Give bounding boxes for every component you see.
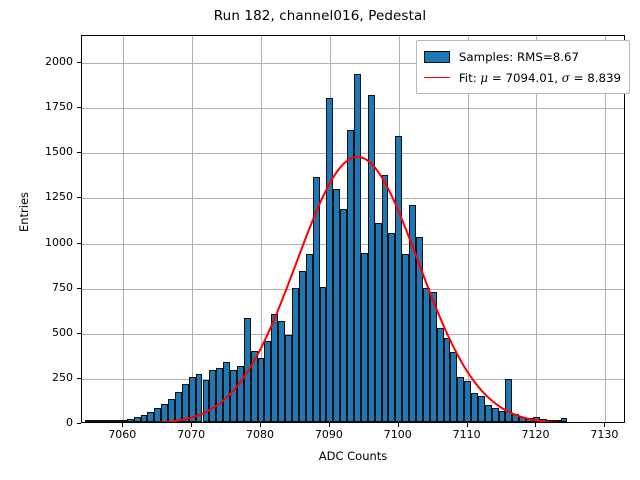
x-tick-mark	[122, 423, 123, 427]
histogram-bar	[99, 420, 106, 422]
histogram-bar	[361, 253, 368, 422]
histogram-bar	[196, 374, 203, 422]
histogram-bar	[113, 420, 120, 422]
x-tick-label: 7090	[299, 428, 359, 441]
histogram-bar	[540, 419, 547, 422]
y-tick-label: 0	[5, 416, 73, 429]
x-tick-label: 7110	[437, 428, 497, 441]
histogram-bar	[388, 233, 395, 422]
y-tick-label: 2000	[5, 55, 73, 68]
histogram-bar	[189, 377, 196, 422]
histogram-bar	[251, 351, 258, 422]
histogram-bar	[244, 318, 251, 422]
histogram-bar	[306, 254, 313, 422]
y-tick-label: 250	[5, 371, 73, 384]
histogram-bar	[147, 412, 154, 422]
histogram-bar	[464, 381, 471, 422]
histogram-bar	[402, 254, 409, 422]
y-tick-mark	[77, 423, 81, 424]
x-tick-label: 7100	[368, 428, 428, 441]
histogram-bar	[347, 130, 354, 422]
histogram-bar	[561, 418, 568, 422]
y-tick-label: 1250	[5, 190, 73, 203]
histogram-bar	[141, 415, 148, 422]
histogram-bar	[168, 399, 175, 422]
x-tick-mark	[535, 423, 536, 427]
histogram-bar	[450, 352, 457, 422]
x-tick-mark	[398, 423, 399, 427]
histogram-bar	[285, 335, 292, 422]
histogram-bar	[278, 321, 285, 422]
legend-swatch-fit-icon	[424, 77, 450, 78]
histogram-bar	[554, 420, 561, 422]
histogram-bar	[209, 370, 216, 422]
histogram-bar	[444, 338, 451, 422]
y-axis-label: Entries	[17, 112, 31, 312]
legend: Samples: RMS=8.67 Fit: μ = 7094.01, σ = …	[416, 40, 630, 94]
histogram-bar	[526, 418, 533, 422]
histogram-bar	[333, 189, 340, 422]
histogram-bar	[175, 392, 182, 422]
histogram-bar	[120, 420, 127, 422]
y-tick-mark	[77, 62, 81, 63]
histogram-bar	[320, 287, 327, 422]
histogram-bar	[340, 209, 347, 422]
y-tick-label: 1500	[5, 145, 73, 158]
histogram-bar	[430, 292, 437, 422]
x-tick-mark	[260, 423, 261, 427]
x-tick-label: 7070	[161, 428, 221, 441]
legend-item-samples: Samples: RMS=8.67	[424, 46, 621, 67]
histogram-bar	[271, 314, 278, 422]
histogram-bar	[106, 420, 113, 422]
x-tick-label: 7060	[92, 428, 152, 441]
histogram-bar	[505, 379, 512, 422]
legend-label-fit: Fit: μ = 7094.01, σ = 8.839	[459, 71, 621, 85]
y-tick-mark	[77, 288, 81, 289]
histogram-bar	[85, 420, 92, 422]
legend-label-samples: Samples: RMS=8.67	[459, 50, 579, 64]
histogram-bar	[519, 417, 526, 422]
y-tick-label: 1750	[5, 100, 73, 113]
histogram-bar	[423, 288, 430, 422]
histogram-bar	[203, 380, 210, 422]
page-title: Run 182, channel016, Pedestal	[0, 8, 640, 24]
x-tick-label: 7120	[505, 428, 565, 441]
histogram-bar	[230, 370, 237, 422]
legend-swatch-samples-icon	[424, 51, 450, 63]
histogram-bar	[512, 414, 519, 422]
x-tick-mark	[604, 423, 605, 427]
histogram-bar	[92, 420, 99, 422]
histogram-bar	[533, 417, 540, 422]
x-tick-label: 7080	[230, 428, 290, 441]
y-tick-label: 750	[5, 281, 73, 294]
histogram-bar	[264, 341, 271, 422]
histogram-bar	[237, 366, 244, 422]
histogram-bar	[409, 205, 416, 422]
histogram-bar	[161, 404, 168, 422]
y-tick-mark	[77, 378, 81, 379]
histogram-bar	[216, 368, 223, 422]
histogram-bar	[375, 223, 382, 422]
y-tick-mark	[77, 333, 81, 334]
histogram-bar	[437, 328, 444, 422]
x-tick-mark	[467, 423, 468, 427]
histogram-bar	[127, 419, 134, 422]
histogram-bar	[313, 177, 320, 422]
histogram-bar	[485, 405, 492, 422]
histogram-bar	[382, 175, 389, 422]
x-axis-label: ADC Counts	[81, 449, 625, 463]
y-tick-mark	[77, 243, 81, 244]
legend-item-fit: Fit: μ = 7094.01, σ = 8.839	[424, 67, 621, 88]
x-tick-mark	[329, 423, 330, 427]
histogram-bar	[368, 95, 375, 422]
histogram-bar	[134, 417, 141, 422]
histogram-bar	[292, 288, 299, 422]
histogram-bar	[223, 362, 230, 422]
y-tick-label: 500	[5, 326, 73, 339]
x-tick-label: 7130	[574, 428, 634, 441]
y-tick-label: 1000	[5, 236, 73, 249]
histogram-bar	[471, 393, 478, 422]
histogram-bar	[492, 408, 499, 422]
histogram-bar	[154, 408, 161, 422]
histogram-bar	[326, 98, 333, 422]
y-tick-mark	[77, 197, 81, 198]
histogram-bar	[499, 411, 506, 422]
histogram-bar	[182, 384, 189, 422]
histogram-bar	[354, 74, 361, 422]
y-tick-mark	[77, 107, 81, 108]
histogram-bar	[478, 396, 485, 422]
histogram-bar	[547, 420, 554, 422]
histogram-bar	[299, 271, 306, 422]
x-tick-mark	[191, 423, 192, 427]
histogram-figure: Run 182, channel016, Pedestal 7060707070…	[0, 0, 640, 480]
y-tick-mark	[77, 152, 81, 153]
histogram-bar	[258, 358, 265, 422]
histogram-bar	[457, 377, 464, 422]
histogram-bar	[416, 237, 423, 422]
histogram-bar	[395, 136, 402, 422]
